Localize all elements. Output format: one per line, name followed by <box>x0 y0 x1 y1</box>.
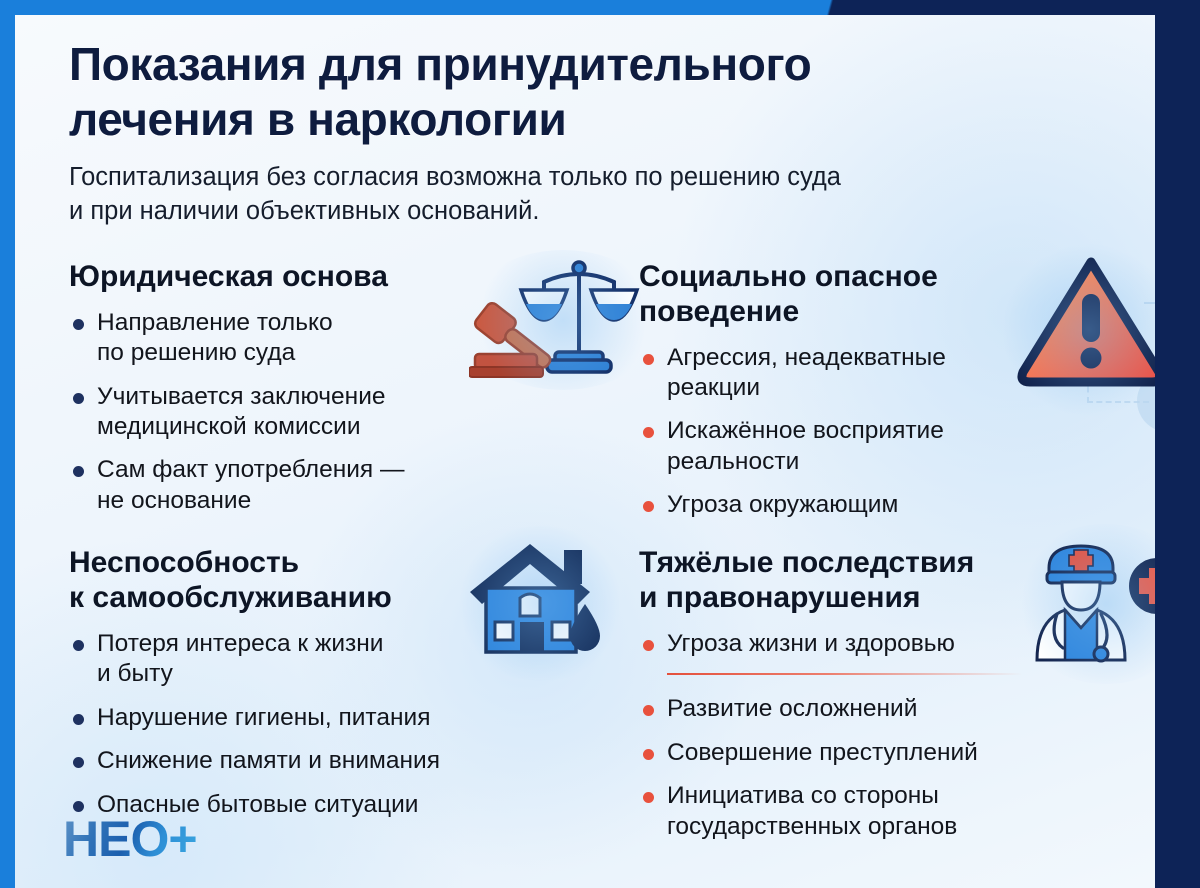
list-item-line: и быту <box>97 659 639 689</box>
frame-band-top-navy <box>800 0 1200 15</box>
page-title-line-1: Показания для принудительного <box>69 37 1069 92</box>
frame-band-top-blue <box>0 0 845 15</box>
section-heading-line: Социально опасное <box>639 260 1129 295</box>
list-item-line: государственных органов <box>667 812 1129 842</box>
page-title: Показания для принудительного лечения в … <box>69 37 1069 146</box>
list-item: Агрессия, неадекватные реакции <box>639 343 1129 404</box>
list-item-line: Снижение памяти и внимания <box>97 746 639 776</box>
list-item-line: Агрессия, неадекватные <box>667 343 1129 373</box>
list-item: Развитие осложнений <box>639 694 1129 724</box>
frame-band-top-diagonal <box>800 0 860 15</box>
bullet-list-legal-basis: Направление только по решению суда Учиты… <box>69 308 639 516</box>
bullet-list-inability-self-care: Потеря интереса к жизни и быту Нарушение… <box>69 629 639 820</box>
infographic-poster: Показания для принудительного лечения в … <box>0 0 1200 888</box>
list-item: Учитывается заключение медицинской комис… <box>69 382 639 443</box>
bullet-list-severe-consequences: Угроза жизни и здоровью Развитие осложне… <box>639 629 1129 842</box>
list-item-line: реакции <box>667 373 1129 403</box>
section-heading-inability-self-care: Неспособность к самообслуживанию <box>69 546 639 616</box>
list-item: Совершение преступлений <box>639 738 1129 768</box>
list-item-line: Нарушение гигиены, питания <box>97 703 639 733</box>
list-item-line: не основание <box>97 486 639 516</box>
list-item: Угроза окружающим <box>639 490 1129 520</box>
section-legal-basis: Юридическая основа Направление только по… <box>69 260 639 520</box>
section-heading-line: и правонарушения <box>639 581 1129 616</box>
list-item-line: медицинской комиссии <box>97 412 639 442</box>
page-subtitle-line-2: и при наличии объективных оснований. <box>69 195 1069 229</box>
section-heading-legal-basis: Юридическая основа <box>69 260 639 295</box>
list-item: Потеря интереса к жизни и быту <box>69 629 639 690</box>
list-item-line: Развитие осложнений <box>667 694 1129 724</box>
section-heading-line: Неспособность <box>69 546 639 581</box>
list-item-line: Потеря интереса к жизни <box>97 629 639 659</box>
list-item: Сам факт употребления — не основание <box>69 455 639 516</box>
list-item: Нарушение гигиены, питания <box>69 703 639 733</box>
list-item-line: Искажённое восприятие <box>667 416 1129 446</box>
list-item-line: по решению суда <box>97 338 639 368</box>
list-item-line: реальности <box>667 447 1129 477</box>
poster-header: Показания для принудительного лечения в … <box>69 37 1069 229</box>
list-item: Направление только по решению суда <box>69 308 639 369</box>
list-item-line: Учитывается заключение <box>97 382 639 412</box>
frame-band-right <box>1155 0 1200 888</box>
section-inability-self-care: Неспособность к самообслуживанию Потеря … <box>69 546 639 841</box>
page-title-line-2: лечения в наркологии <box>69 92 1069 147</box>
section-heading-socially-dangerous-behavior: Социально опасное поведение <box>639 260 1129 330</box>
section-heading-line: к самообслуживанию <box>69 581 639 616</box>
list-item: Искажённое восприятие реальности <box>639 416 1129 477</box>
sections-row-top: Юридическая основа Направление только по… <box>69 260 1129 520</box>
list-item: Инициатива со стороны государственных ор… <box>639 781 1129 842</box>
poster-card: Показания для принудительного лечения в … <box>15 15 1155 888</box>
brand-logo: НЕО+ <box>63 814 197 864</box>
sections-grid: Юридическая основа Направление только по… <box>69 260 1129 842</box>
list-item-line: Направление только <box>97 308 639 338</box>
brand-logo-text: НЕО+ <box>63 814 197 864</box>
section-socially-dangerous-behavior: Социально опасное поведение Агрессия, не… <box>639 260 1129 520</box>
section-heading-line: Тяжёлые последствия <box>639 546 1129 581</box>
list-item-line: Совершение преступлений <box>667 738 1129 768</box>
page-subtitle-line-1: Госпитализация без согласия возможна тол… <box>69 161 1069 195</box>
frame-band-left <box>0 0 15 888</box>
section-heading-line: Юридическая основа <box>69 260 639 295</box>
list-item-line: Сам факт употребления — <box>97 455 639 485</box>
section-heading-line: поведение <box>639 295 1129 330</box>
list-item-line: Угроза жизни и здоровью <box>667 629 1129 659</box>
list-item: Снижение памяти и внимания <box>69 746 639 776</box>
sections-row-bottom: Неспособность к самообслуживанию Потеря … <box>69 546 1129 841</box>
section-heading-severe-consequences: Тяжёлые последствия и правонарушения <box>639 546 1129 616</box>
bullet-list-socially-dangerous-behavior: Агрессия, неадекватные реакции Искажённо… <box>639 343 1129 521</box>
list-item-line: Угроза окружающим <box>667 490 1129 520</box>
list-item: Угроза жизни и здоровью <box>639 629 1129 681</box>
section-severe-consequences: Тяжёлые последствия и правонарушения Угр… <box>639 546 1129 841</box>
page-subtitle: Госпитализация без согласия возможна тол… <box>69 161 1069 229</box>
list-item-line: Инициатива со стороны <box>667 781 1129 811</box>
